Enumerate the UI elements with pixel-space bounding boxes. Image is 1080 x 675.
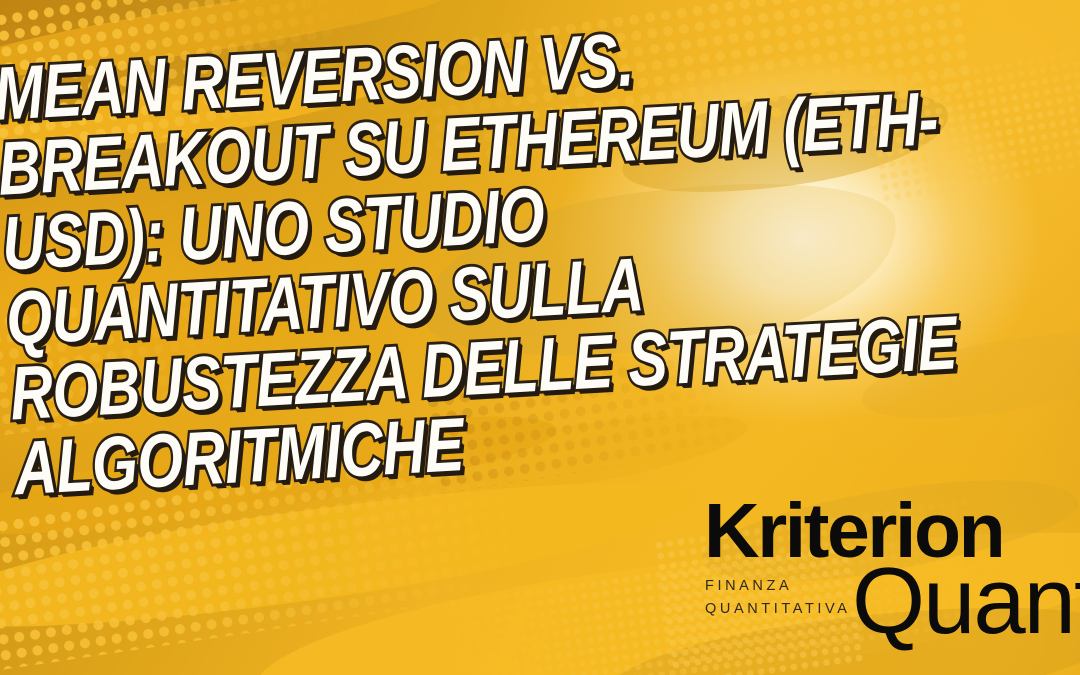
article-hero-banner: MEAN REVERSION VS. BREAKOUT SU ETHEREUM …: [0, 0, 1080, 675]
page-title: MEAN REVERSION VS. BREAKOUT SU ETHEREUM …: [0, 0, 1075, 505]
logo-tagline-line-1: FINANZA: [705, 575, 851, 598]
logo-tagline: FINANZA QUANTITATIVA: [705, 575, 851, 621]
kriterion-quant-logo: Kriterion Quant FINANZA QUANTITATIVA: [700, 493, 1070, 653]
logo-brand-secondary: Quant: [852, 553, 1080, 649]
logo-tagline-line-2: QUANTITATIVA: [705, 598, 851, 621]
